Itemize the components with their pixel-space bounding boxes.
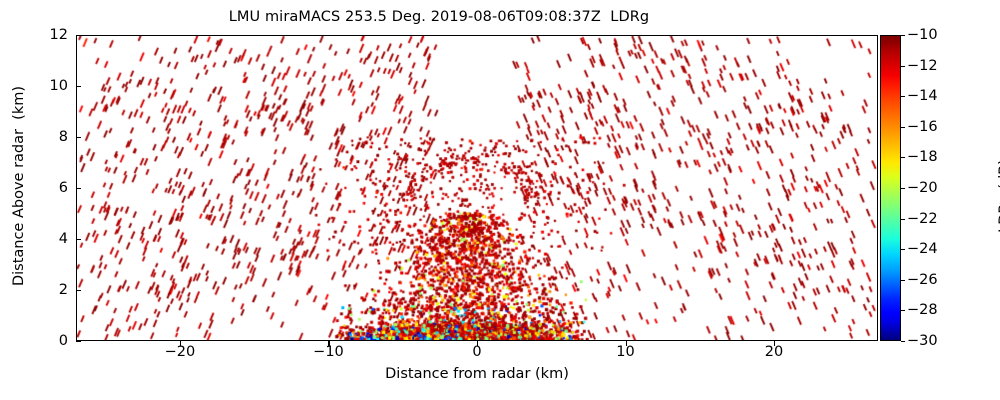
- plot-axes: [76, 35, 878, 341]
- colorbar: [880, 35, 901, 341]
- colorbar-tick-label: −14: [907, 88, 938, 104]
- colorbar-tick-label: −20: [907, 180, 938, 196]
- colorbar-tick-label: −12: [907, 58, 938, 74]
- colorbar-tick-label: −18: [907, 149, 938, 165]
- y-tick-mark: [76, 188, 81, 189]
- y-tick-mark: [76, 137, 81, 138]
- colorbar-tick-label: −24: [907, 241, 938, 257]
- x-tick-label: 10: [616, 344, 634, 360]
- colorbar-tick-mark: [901, 157, 905, 158]
- page-title: LMU miraMACS 253.5 Deg. 2019-08-06T09:08…: [0, 8, 878, 26]
- y-tick-mark: [76, 290, 81, 291]
- colorbar-tick-mark: [901, 188, 905, 189]
- colorbar-tick-label: −22: [907, 211, 938, 227]
- y-tick-mark: [76, 239, 81, 240]
- y-tick-mark: [76, 86, 81, 87]
- colorbar-tick-mark: [901, 219, 905, 220]
- y-axis-label: Distance Above radar (km): [11, 33, 27, 339]
- colorbar-tick-mark: [901, 280, 905, 281]
- colorbar-tick-label: −16: [907, 119, 938, 135]
- colorbar-gradient: [880, 35, 901, 341]
- scatter-data-layer: [77, 36, 877, 340]
- colorbar-tick-mark: [901, 96, 905, 97]
- x-tick-label: 0: [472, 344, 481, 360]
- colorbar-tick-mark: [901, 35, 905, 36]
- colorbar-tick-label: −28: [907, 302, 938, 318]
- x-tick-label: −20: [165, 344, 196, 360]
- colorbar-tick-label: −26: [907, 272, 938, 288]
- colorbar-tick-label: −30: [907, 333, 938, 349]
- colorbar-tick-mark: [901, 66, 905, 67]
- y-tick-mark: [76, 341, 81, 342]
- x-tick-label: 20: [765, 344, 783, 360]
- colorbar-tick-label: −10: [907, 27, 938, 43]
- x-tick-label: −10: [313, 344, 344, 360]
- colorbar-tick-mark: [901, 341, 905, 342]
- radar-ldrg-figure: LMU miraMACS 253.5 Deg. 2019-08-06T09:08…: [0, 0, 1000, 400]
- colorbar-tick-mark: [901, 127, 905, 128]
- colorbar-tick-mark: [901, 249, 905, 250]
- x-axis-label: Distance from radar (km): [76, 366, 878, 382]
- colorbar-tick-mark: [901, 310, 905, 311]
- y-tick-mark: [76, 35, 81, 36]
